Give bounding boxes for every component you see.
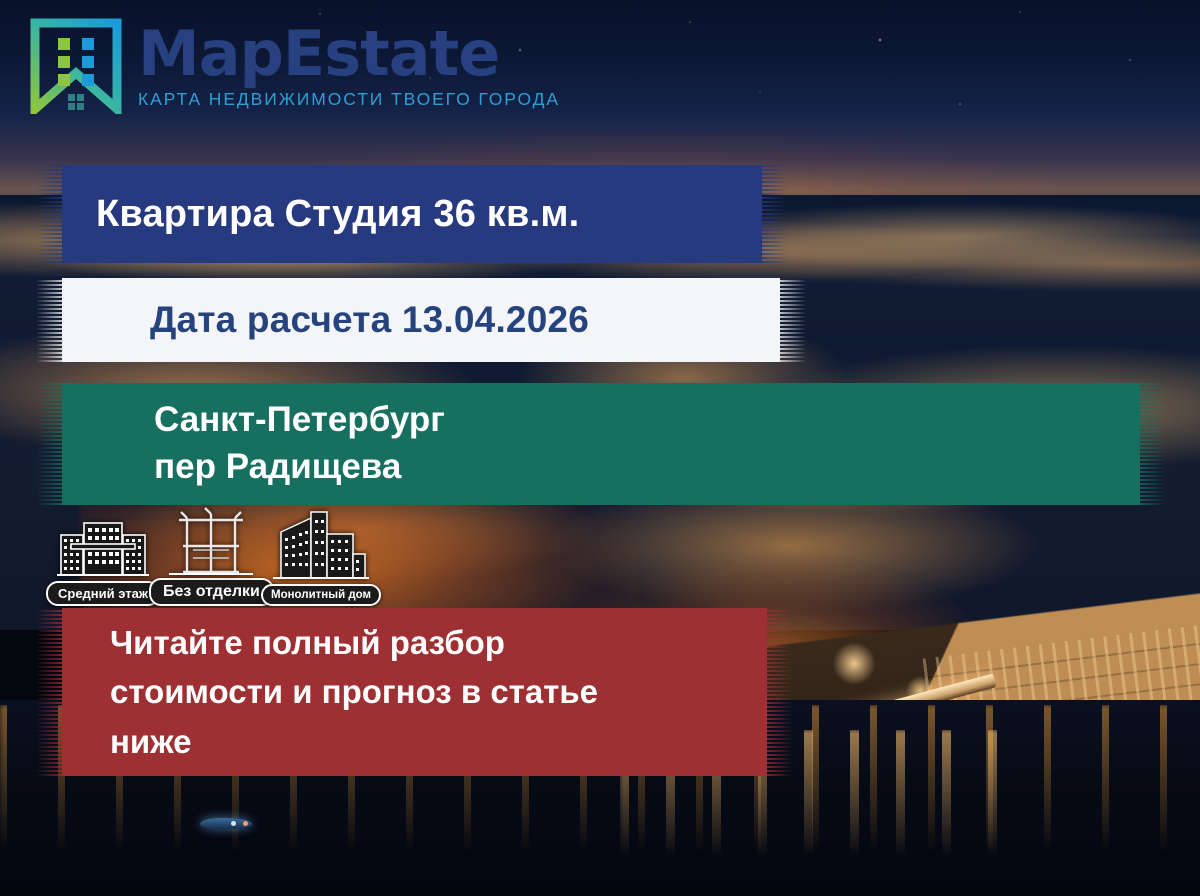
cta-text-group: Читайте полный разбор стоимости и прогно… xyxy=(62,621,598,764)
band-right-frayed-edge xyxy=(1132,383,1166,505)
property-title: Квартира Студия 36 кв.м. xyxy=(62,193,579,236)
feature-badge-bare-shell[interactable]: Без отделки xyxy=(149,506,274,606)
promo-poster: MapEstate КАРТА НЕДВИЖИМОСТИ ТВОЕГО ГОРО… xyxy=(0,0,1200,896)
band-right-frayed-edge xyxy=(759,608,793,776)
calculation-date: Дата расчета 13.04.2026 xyxy=(62,299,589,341)
location-text-group: Санкт-Петербург пер Радищева xyxy=(62,402,445,486)
brand-tagline: КАРТА НЕДВИЖИМОСТИ ТВОЕГО ГОРОДА xyxy=(138,89,560,110)
bookmark-building-icon xyxy=(30,18,122,114)
band-right-frayed-edge xyxy=(754,165,788,263)
calculation-date-band: Дата расчета 13.04.2026 xyxy=(62,278,780,362)
bare-shell-frame-icon xyxy=(169,506,253,581)
cta-line-2: стоимости и прогноз в статье xyxy=(110,670,598,714)
feature-badge-monolithic[interactable]: Монолитный дом xyxy=(261,508,381,606)
feature-badges: Средний этаж Без отделки xyxy=(46,508,386,606)
cta-line-1: Читайте полный разбор xyxy=(110,621,598,665)
cta-line-3: ниже xyxy=(110,720,598,764)
feature-badge-mid-floor[interactable]: Средний этаж xyxy=(46,517,160,606)
location-city: Санкт-Петербург xyxy=(154,402,445,439)
mid-floor-building-icon xyxy=(57,517,149,584)
cta-band[interactable]: Читайте полный разбор стоимости и прогно… xyxy=(62,608,767,776)
feature-label: Монолитный дом xyxy=(261,584,381,606)
property-title-band: Квартира Студия 36 кв.м. xyxy=(62,165,762,263)
brand-text: MapEstate КАРТА НЕДВИЖИМОСТИ ТВОЕГО ГОРО… xyxy=(138,18,560,110)
brand-wordmark: MapEstate xyxy=(138,17,499,90)
band-right-frayed-edge xyxy=(772,278,806,362)
brand-logo[interactable]: MapEstate КАРТА НЕДВИЖИМОСТИ ТВОЕГО ГОРО… xyxy=(30,18,560,114)
feature-label: Без отделки xyxy=(149,578,274,606)
monolithic-building-icon xyxy=(269,508,373,587)
location-street: пер Радищева xyxy=(154,449,445,486)
location-band: Санкт-Петербург пер Радищева xyxy=(62,383,1140,505)
feature-label: Средний этаж xyxy=(46,581,160,606)
